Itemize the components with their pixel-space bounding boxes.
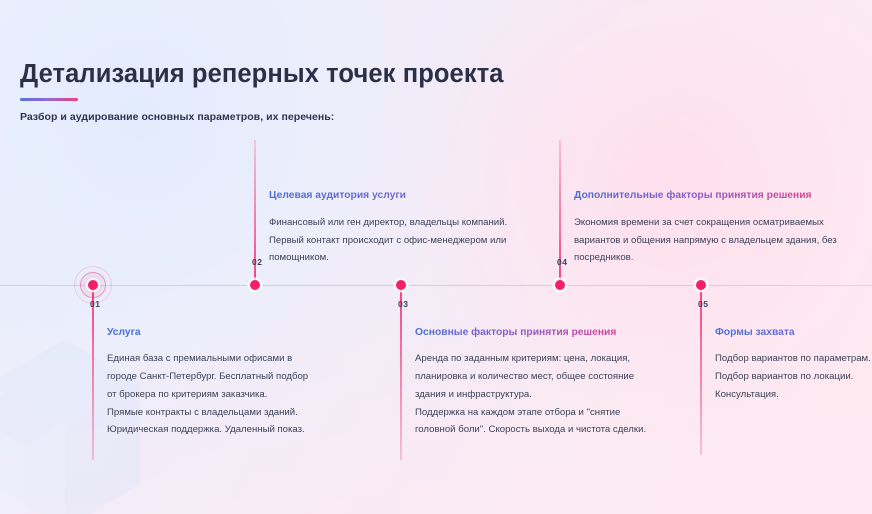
- timeline-node-body-line: помощником.: [269, 249, 525, 267]
- title-underline-rule: [20, 98, 78, 101]
- page-title: Детализация реперных точек проекта: [20, 60, 660, 89]
- timeline-node-body: Экономия времени за счет сокращения осма…: [574, 214, 850, 267]
- timeline-axis: [0, 285, 872, 286]
- timeline-node-body-line: посредников.: [574, 249, 850, 267]
- timeline-node-body-line: Первый контакт происходит с офис-менедже…: [269, 232, 525, 250]
- timeline-node-body-line: планировка и количество мест, общее сост…: [415, 368, 651, 386]
- timeline-node-body-line: Подбор вариантов по локации.: [715, 368, 871, 386]
- timeline-node-body-line: здания и инфраструктура.: [415, 386, 651, 404]
- timeline-node-body-line: Единая база с премиальными офисами в: [107, 350, 323, 368]
- timeline-node-dot[interactable]: [555, 280, 565, 290]
- timeline-node-title: Основные факторы принятия решения: [415, 327, 651, 339]
- timeline-node-body-line: Аренда по заданным критериям: цена, лока…: [415, 350, 651, 368]
- timeline-node-body-line: от брокера по критериям заказчика.: [107, 386, 323, 404]
- timeline-node-body: Подбор вариантов по параметрам.Подбор ва…: [715, 350, 871, 403]
- timeline-node-body: Аренда по заданным критериям: цена, лока…: [415, 350, 651, 439]
- timeline-node-title: Целевая аудитория услуги: [269, 190, 525, 202]
- timeline-node-body-line: городе Санкт-Петербург. Бесплатный подбо…: [107, 368, 323, 386]
- timeline-node-number: 05: [698, 299, 708, 309]
- timeline-node-body-line: Экономия времени за счет сокращения осма…: [574, 214, 850, 232]
- timeline-node-body-line: вариантов и общения напрямую с владельце…: [574, 232, 850, 250]
- timeline-node-title: Дополнительные факторы принятия решения: [574, 190, 850, 202]
- timeline-node-content: Основные факторы принятия решенияАренда …: [401, 327, 651, 439]
- timeline-node-content: УслугаЕдиная база с премиальными офисами…: [93, 327, 323, 439]
- header: Детализация реперных точек проекта Разбо…: [20, 60, 660, 123]
- timeline-node-dot[interactable]: [88, 280, 98, 290]
- timeline-node-content: Целевая аудитория услугиФинансовый или г…: [255, 190, 525, 267]
- timeline-node-body-line: Консультация.: [715, 386, 871, 404]
- slide-canvas: Детализация реперных точек проекта Разбо…: [0, 0, 872, 514]
- timeline-node-title: Услуга: [107, 327, 323, 339]
- timeline-node-body-line: Финансовый или ген директор, владельцы к…: [269, 214, 525, 232]
- timeline-node-title: Формы захвата: [715, 327, 871, 339]
- timeline-node-body-line: Поддержка на каждом этапе отбора и "снят…: [415, 404, 651, 422]
- timeline-node-dot[interactable]: [696, 280, 706, 290]
- timeline-node-dot[interactable]: [250, 280, 260, 290]
- timeline-node-dot[interactable]: [396, 280, 406, 290]
- timeline-node-body: Финансовый или ген директор, владельцы к…: [269, 214, 525, 267]
- timeline-node-body-line: Юридическая поддержка. Удаленный показ.: [107, 421, 323, 439]
- page-subtitle: Разбор и аудирование основных параметров…: [20, 111, 660, 123]
- timeline-node-content: Дополнительные факторы принятия решенияЭ…: [560, 190, 850, 267]
- timeline-node-content: Формы захватаПодбор вариантов по парамет…: [701, 327, 871, 404]
- timeline-node-body-line: Прямые контракты с владельцами зданий.: [107, 404, 323, 422]
- timeline-node-number: 03: [398, 299, 408, 309]
- timeline-node-body-line: головной боли". Скорость выхода и чистот…: [415, 421, 651, 439]
- timeline-node-body-line: Подбор вариантов по параметрам.: [715, 350, 871, 368]
- timeline-node-body: Единая база с премиальными офисами вгоро…: [107, 350, 323, 439]
